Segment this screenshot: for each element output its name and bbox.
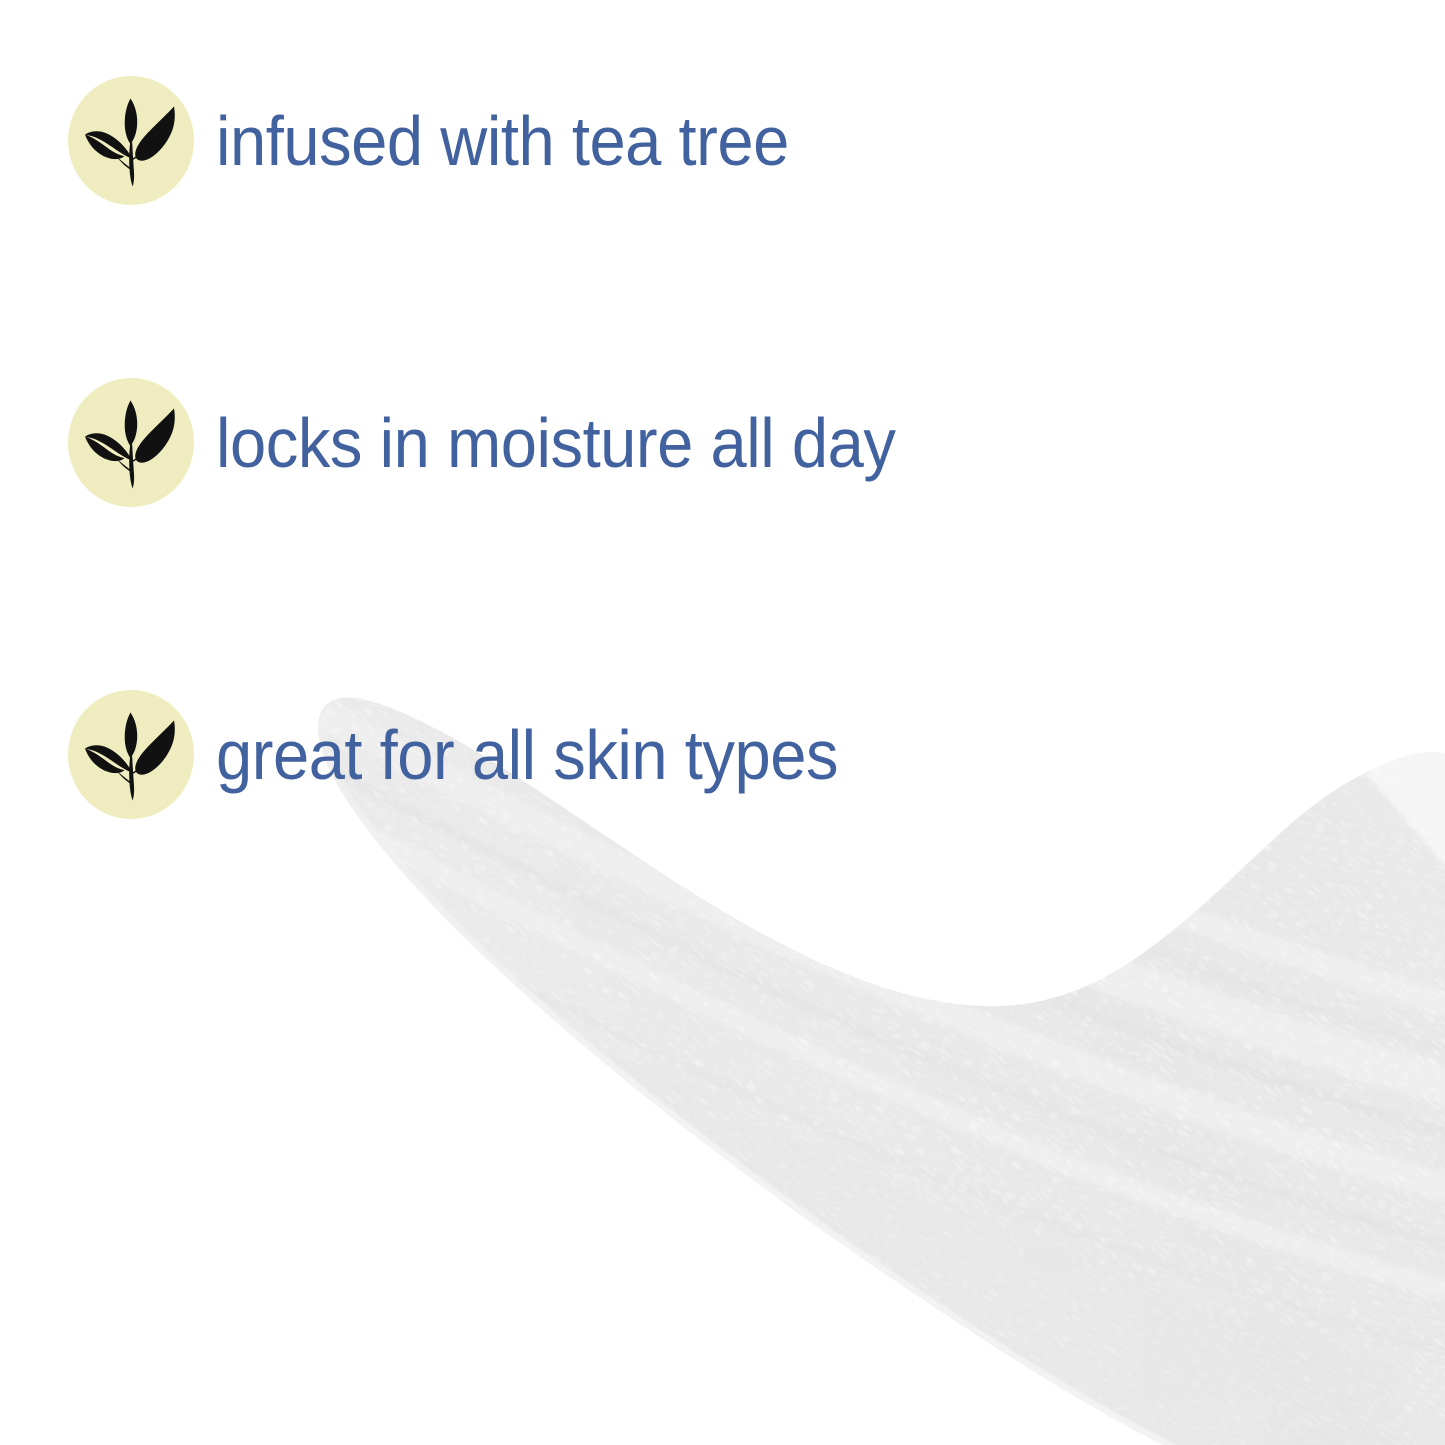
- benefit-label: infused with tea tree: [216, 106, 789, 176]
- benefit-badge: [68, 378, 194, 507]
- benefit-badge: [68, 690, 194, 819]
- benefit-item: infused with tea tree: [68, 76, 832, 205]
- cream-swatch-image: [0, 430, 1445, 1445]
- benefit-label: locks in moisture all day: [216, 408, 895, 478]
- benefit-item: locks in moisture all day: [68, 378, 947, 507]
- benefit-item: great for all skin types: [68, 690, 885, 819]
- benefit-badge: [68, 76, 194, 205]
- benefit-label: great for all skin types: [216, 720, 838, 790]
- tea-leaf-icon: [68, 378, 194, 507]
- tea-leaf-icon: [68, 76, 194, 205]
- tea-leaf-icon: [68, 690, 194, 819]
- product-benefits-panel: infused with tea tree locks in moisture …: [0, 0, 1445, 1445]
